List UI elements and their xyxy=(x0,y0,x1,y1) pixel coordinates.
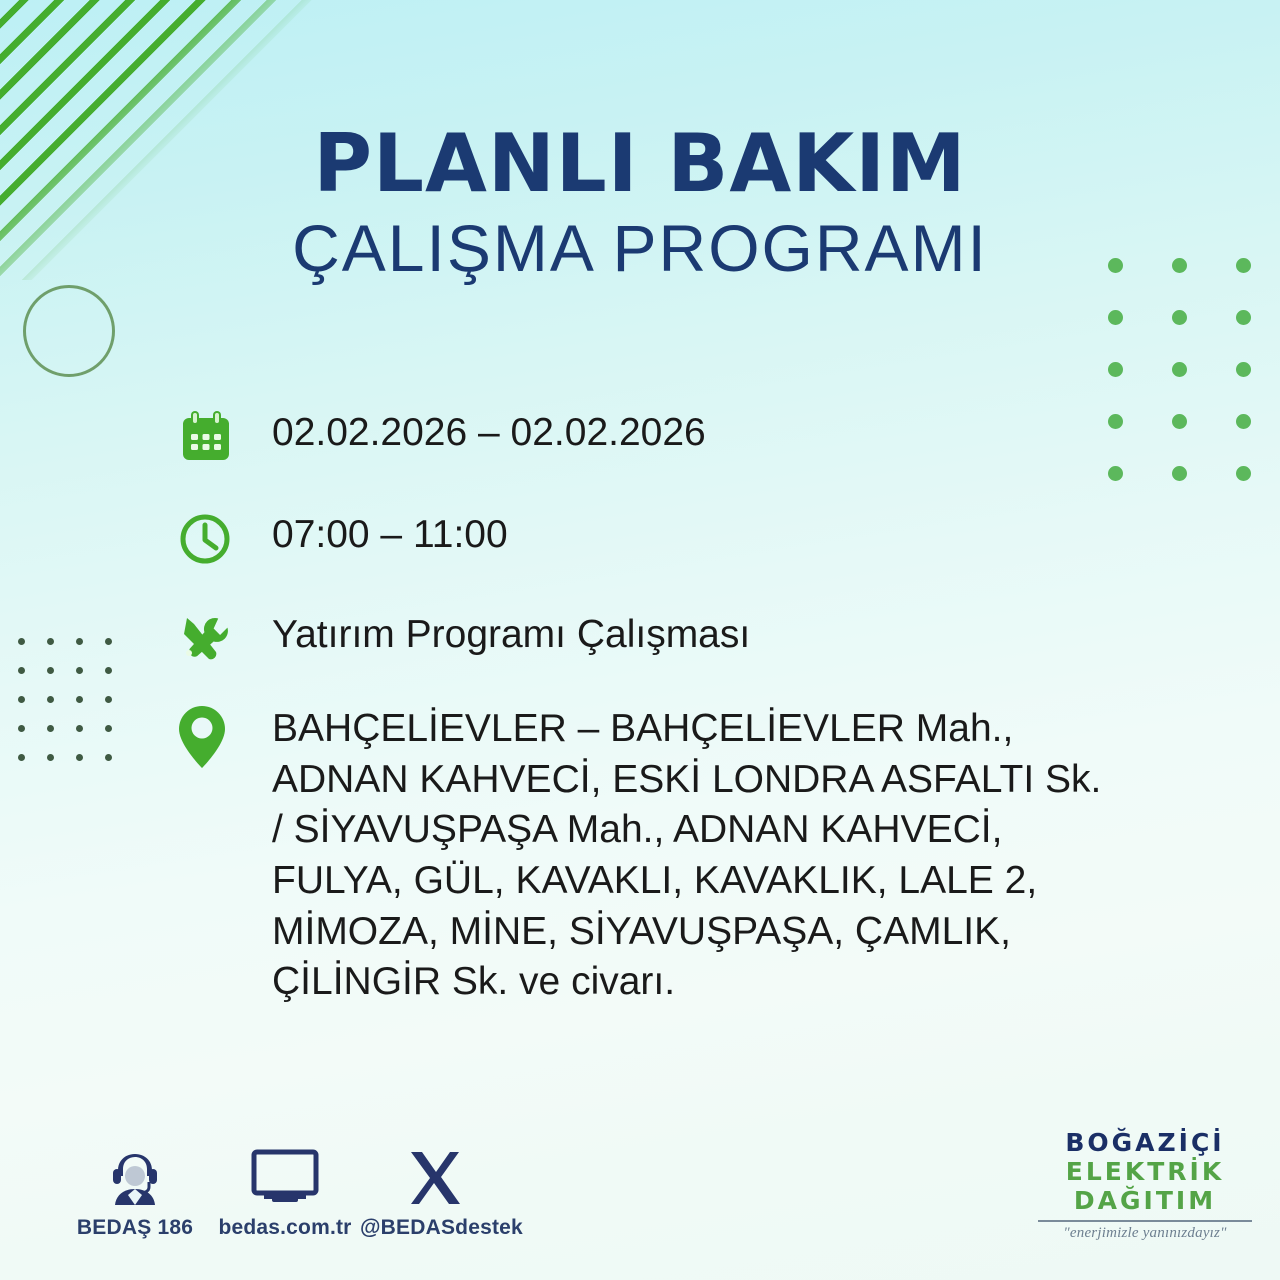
dot-grid-right-decoration xyxy=(1108,258,1280,518)
location-pin-icon xyxy=(178,702,238,772)
contact-x-label: @BEDASdestek xyxy=(360,1216,510,1240)
x-social-icon xyxy=(360,1146,510,1210)
circle-outline-decoration xyxy=(23,285,115,377)
work-type-row: Yatırım Programı Çalışması xyxy=(178,608,1128,670)
logo-line-bogazici: BOĞAZİÇİ xyxy=(1032,1128,1258,1157)
work-type-value: Yatırım Programı Çalışması xyxy=(272,608,750,658)
time-row: 07:00 – 11:00 xyxy=(178,508,1128,570)
address-line: FULYA, GÜL, KAVAKLI, KAVAKLIK, LALE 2, xyxy=(272,856,1101,907)
bedas-logo: BOĞAZİÇİ ELEKTRİK DAĞITIM "enerjimizle y… xyxy=(1032,1128,1258,1242)
title-main: PLANLI BAKIM xyxy=(0,124,1280,204)
address-line: BAHÇELİEVLER – BAHÇELİEVLER Mah., xyxy=(272,704,1101,755)
address-line: ÇİLİNGİR Sk. ve civarı. xyxy=(272,957,1101,1008)
monitor-icon xyxy=(210,1146,360,1210)
logo-divider xyxy=(1038,1220,1252,1222)
logo-tagline: "enerjimizle yanınızdayız" xyxy=(1032,1225,1258,1242)
time-value: 07:00 – 11:00 xyxy=(272,508,508,558)
contact-website[interactable]: bedas.com.tr xyxy=(210,1146,360,1240)
date-row: 02.02.2026 – 02.02.2026 xyxy=(178,406,1128,468)
page-title: PLANLI BAKIM ÇALIŞMA PROGRAMI xyxy=(0,124,1280,286)
address-value: BAHÇELİEVLER – BAHÇELİEVLER Mah., ADNAN … xyxy=(272,702,1101,1008)
logo-line-elektrik: ELEKTRİK xyxy=(1032,1157,1258,1186)
contact-phone[interactable]: BEDAŞ 186 xyxy=(60,1146,210,1240)
poster-canvas: PLANLI BAKIM ÇALIŞMA PROGRAMI xyxy=(0,0,1280,1280)
logo-line-dagitim: DAĞITIM xyxy=(1032,1186,1258,1215)
tools-icon xyxy=(178,608,238,670)
contact-phone-label: BEDAŞ 186 xyxy=(60,1216,210,1240)
contact-x-social[interactable]: @BEDASdestek xyxy=(360,1146,510,1240)
title-subtitle: ÇALIŞMA PROGRAMI xyxy=(0,212,1280,286)
footer-contacts: BEDAŞ 186 bedas.com.tr @BEDASdestek xyxy=(60,1146,510,1240)
address-row: BAHÇELİEVLER – BAHÇELİEVLER Mah., ADNAN … xyxy=(178,702,1128,1008)
date-value: 02.02.2026 – 02.02.2026 xyxy=(272,406,706,456)
calendar-icon xyxy=(178,406,238,468)
clock-icon xyxy=(178,508,238,570)
address-line: MİMOZA, MİNE, SİYAVUŞPAŞA, ÇAMLIK, xyxy=(272,907,1101,958)
address-line: / SİYAVUŞPAŞA Mah., ADNAN KAHVECİ, xyxy=(272,805,1101,856)
address-line: ADNAN KAHVECİ, ESKİ LONDRA ASFALTI Sk. xyxy=(272,755,1101,806)
dot-grid-left-decoration xyxy=(18,638,134,783)
contact-website-label: bedas.com.tr xyxy=(210,1216,360,1240)
info-block: 02.02.2026 – 02.02.2026 07:00 – 11:00 Ya… xyxy=(178,406,1128,1032)
support-agent-icon xyxy=(60,1146,210,1210)
